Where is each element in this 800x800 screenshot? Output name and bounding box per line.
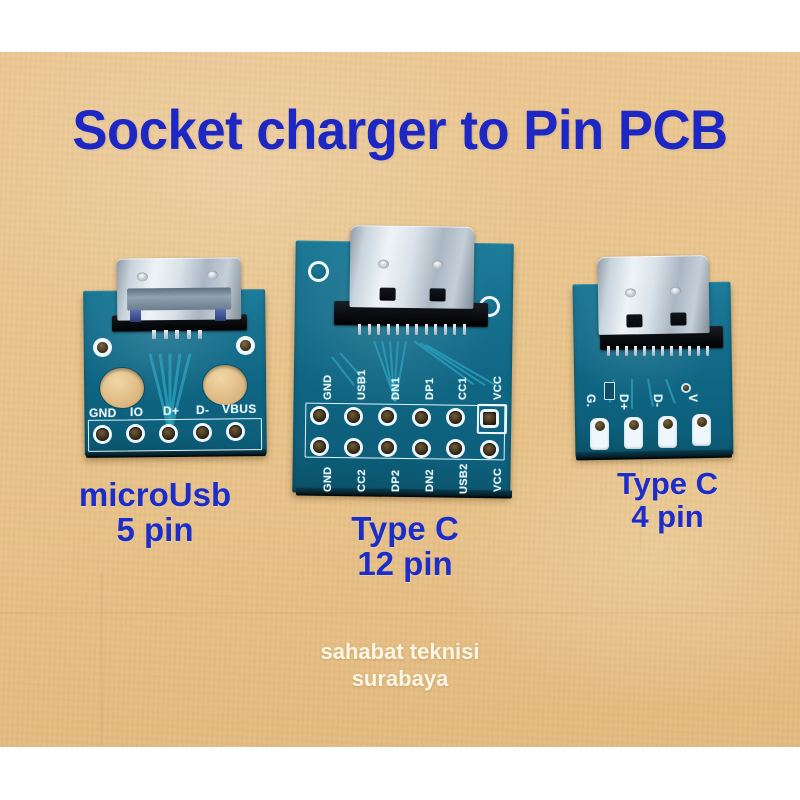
micro-usb-mounting-hole-right [203, 365, 247, 405]
type-c-4-label-dminus: D- [651, 394, 665, 407]
page-title: Socket charger to Pin PCB [24, 100, 776, 160]
type-c-12-pad-bottom-4 [415, 442, 428, 455]
type-c-12-pad-top-4 [415, 411, 428, 424]
micro-usb-pin-label-gnd: GND [89, 406, 117, 420]
watermark-line2: surabaya [0, 665, 800, 692]
type-c-12-bottom-label-vcc: VCC [492, 468, 504, 492]
caption-micro-usb-line2: 5 pin [20, 513, 290, 548]
watermark-line1: sahabat teknisi [321, 639, 480, 664]
caption-micro-usb: microUsb 5 pin [20, 478, 290, 548]
type-c-12-bottom-label-dn2: DN2 [424, 469, 436, 492]
micro-usb-connector-pins [152, 330, 202, 339]
type-c-4-connector-pins [607, 346, 709, 356]
type-c-4-connector-shield [597, 255, 709, 335]
type-c-4-label-g: G. [584, 394, 598, 407]
caption-type-c-12: Type C 12 pin [290, 512, 520, 582]
type-c-4-via [683, 385, 689, 391]
type-c-12-pad-bottom-3 [381, 441, 394, 454]
type-c-12-top-label-usb1: USB1 [356, 369, 368, 400]
type-c-4-label-v: V [686, 394, 700, 402]
type-c-12-top-label-gnd: GND [322, 375, 334, 400]
micro-usb-via-right [240, 340, 251, 351]
type-c-12-bottom-label-gnd: GND [322, 467, 334, 492]
caption-type-c-12-line2: 12 pin [290, 547, 520, 582]
caption-type-c-4: Type C 4 pin [560, 468, 775, 534]
micro-usb-mounting-hole-left [100, 368, 144, 408]
caption-type-c-4-line1: Type C [617, 466, 718, 501]
type-c-4-pad-1 [590, 418, 609, 450]
type-c-12-pad-top-6 [483, 412, 496, 425]
type-c-12-pad-bottom-5 [449, 442, 462, 455]
type-c-12-top-label-dn1: DN1 [390, 377, 402, 400]
micro-usb-pad-5 [229, 425, 242, 438]
micro-usb-pin-label-dplus: D+ [163, 404, 179, 418]
micro-usb-pad-4 [196, 426, 209, 439]
type-c-4-pad-2 [624, 417, 643, 449]
caption-type-c-4-line2: 4 pin [560, 501, 775, 534]
type-c-12-connector-shield [349, 225, 474, 309]
micro-usb-pin-label-dminus: D- [196, 403, 209, 417]
type-c-12-pad-bottom-1 [313, 440, 326, 453]
type-c-4-pad-3 [658, 416, 677, 448]
micro-usb-via-left [97, 342, 108, 353]
type-c-12-top-label-cc1: CC1 [457, 377, 469, 400]
type-c-12-top-label-dp1: DP1 [424, 378, 436, 400]
type-c-12-via-top-left [308, 261, 329, 282]
type-c-12-pad-bottom-2 [347, 441, 360, 454]
product-photo: Socket charger to Pin PCB [0, 0, 800, 800]
type-c-4-pad-4 [692, 414, 711, 446]
type-c-12-bottom-label-cc2: CC2 [356, 469, 368, 492]
micro-usb-pin-label-vbus: VBUS [222, 402, 257, 416]
type-c-4-smd-pads [604, 382, 615, 400]
type-c-12-pad-top-5 [449, 411, 462, 424]
type-c-12-pad-top-2 [347, 410, 360, 423]
type-c-12-pad-top-1 [313, 409, 326, 422]
type-c-12-bottom-label-dp2: DP2 [390, 470, 402, 492]
type-c-12-top-label-vcc: VCC [492, 376, 504, 400]
type-c-4-label-dplus: D+ [617, 394, 631, 410]
caption-type-c-12-line1: Type C [351, 510, 459, 547]
micro-usb-pad-3 [162, 427, 175, 440]
caption-micro-usb-line1: microUsb [79, 476, 231, 513]
micro-usb-pin-label-io: IO [130, 405, 143, 419]
micro-usb-pad-2 [129, 427, 142, 440]
type-c-12-pad-bottom-6 [483, 443, 496, 456]
micro-usb-pad-1 [96, 428, 109, 441]
type-c-12-bottom-label-usb2: USB2 [458, 463, 470, 494]
watermark: sahabat teknisi surabaya [0, 638, 800, 692]
type-c-12-header-outline [305, 403, 506, 461]
type-c-12-connector-pins [358, 324, 466, 335]
type-c-12-pad-top-3 [381, 410, 394, 423]
